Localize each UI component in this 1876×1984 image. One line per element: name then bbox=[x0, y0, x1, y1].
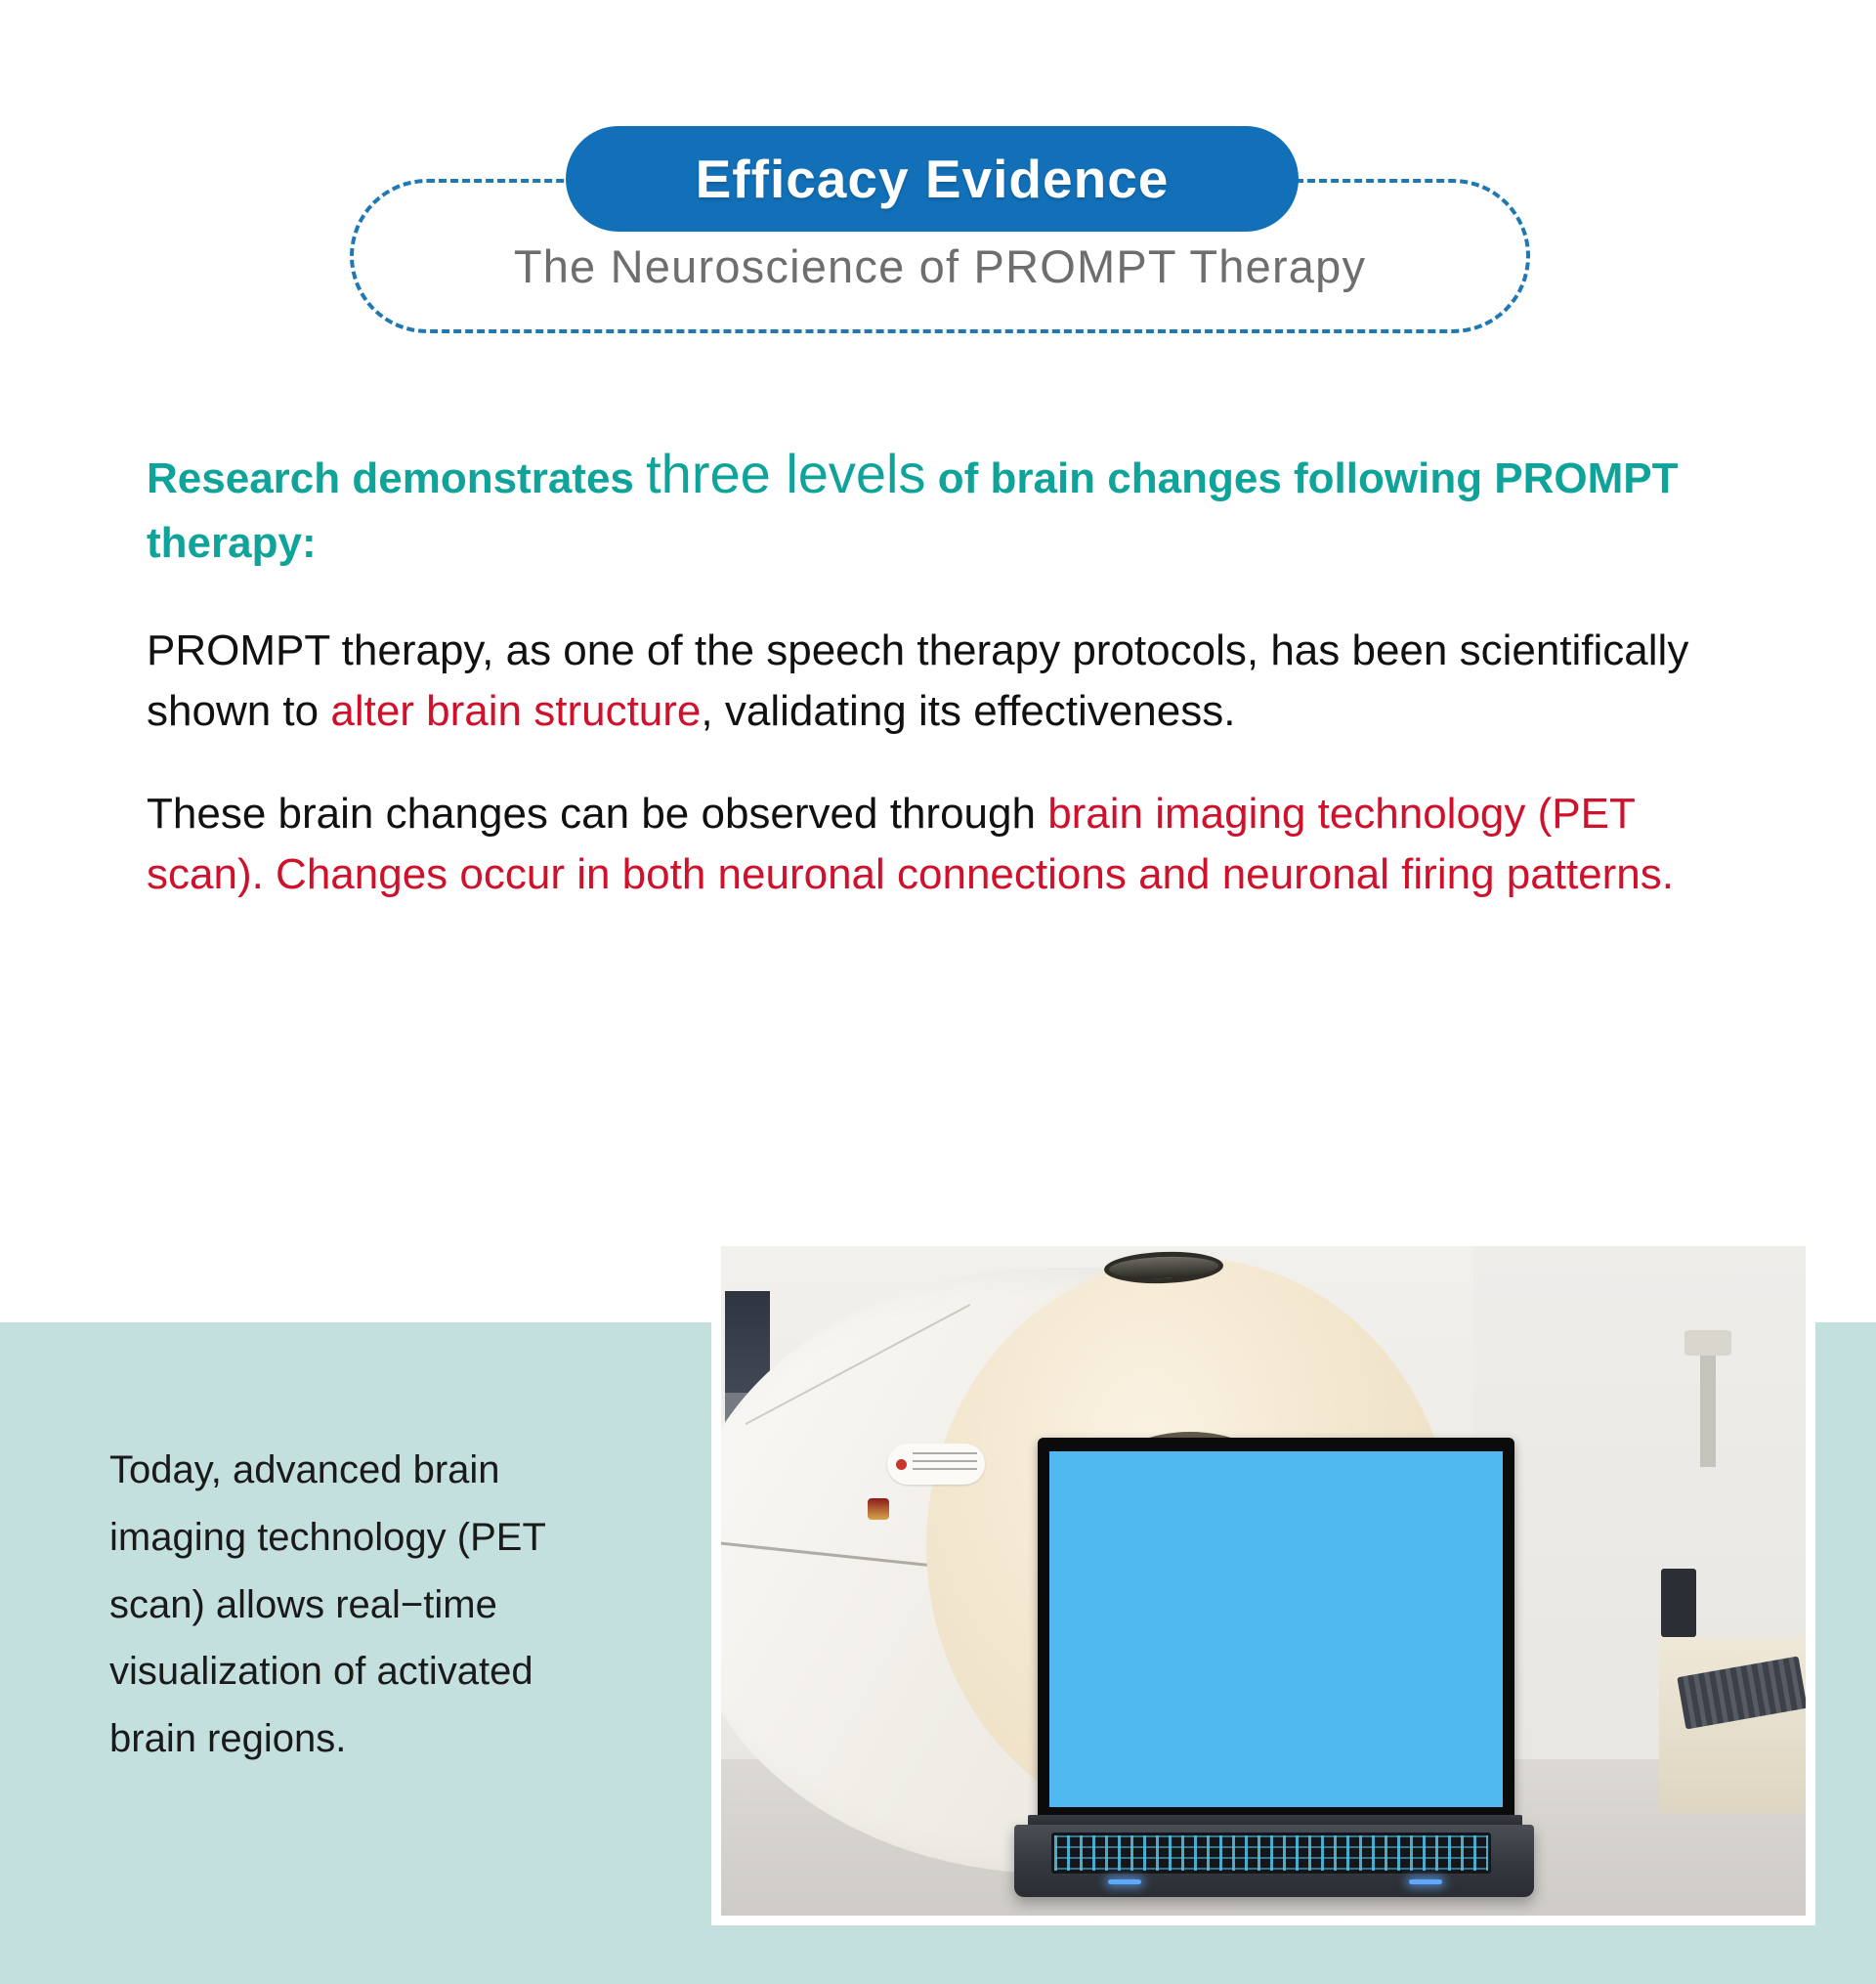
lead-part1: Research demonstrates bbox=[147, 454, 646, 502]
page-subtitle: The Neuroscience of PROMPT Therapy bbox=[350, 239, 1530, 293]
laptop-screen bbox=[1049, 1451, 1503, 1807]
laptop-lid bbox=[1038, 1438, 1514, 1821]
body-content: Research demonstrates three levels of br… bbox=[147, 435, 1749, 947]
page-title-badge: Efficacy Evidence bbox=[566, 126, 1299, 232]
workstation-monitor-edge bbox=[1661, 1569, 1696, 1637]
paragraph-two-part1: These brain changes can be observed thro… bbox=[147, 790, 1047, 838]
laptop-keyboard bbox=[1051, 1833, 1491, 1874]
laptop-indicator-light-right bbox=[1409, 1879, 1442, 1884]
header: Efficacy Evidence The Neuroscience of PR… bbox=[350, 179, 1530, 333]
sticker-text-lines bbox=[913, 1452, 977, 1476]
paragraph-one: PROMPT therapy, as one of the speech the… bbox=[147, 621, 1749, 743]
laptop bbox=[1014, 1438, 1534, 1897]
sticker-red-dot-icon bbox=[896, 1459, 907, 1470]
ceiling-post-head bbox=[1684, 1330, 1731, 1356]
infographic-page: Efficacy Evidence The Neuroscience of PR… bbox=[0, 0, 1876, 1984]
paragraph-two: These brain changes can be observed thro… bbox=[147, 784, 1749, 906]
scanner-mini-label bbox=[868, 1498, 889, 1520]
laptop-indicator-light-left bbox=[1108, 1879, 1141, 1884]
lead-paragraph: Research demonstrates three levels of br… bbox=[147, 435, 1749, 574]
ceiling-post bbox=[1700, 1340, 1716, 1467]
callout-text: Today, advanced brain imaging technology… bbox=[109, 1437, 627, 1773]
paragraph-one-part2: , validating its effectiveness. bbox=[701, 687, 1235, 735]
pet-scanner-photo bbox=[721, 1246, 1806, 1916]
paragraph-one-highlight: alter brain structure bbox=[330, 687, 701, 735]
lead-emphasis: three levels bbox=[646, 443, 925, 504]
scanner-control-sticker bbox=[887, 1444, 985, 1485]
